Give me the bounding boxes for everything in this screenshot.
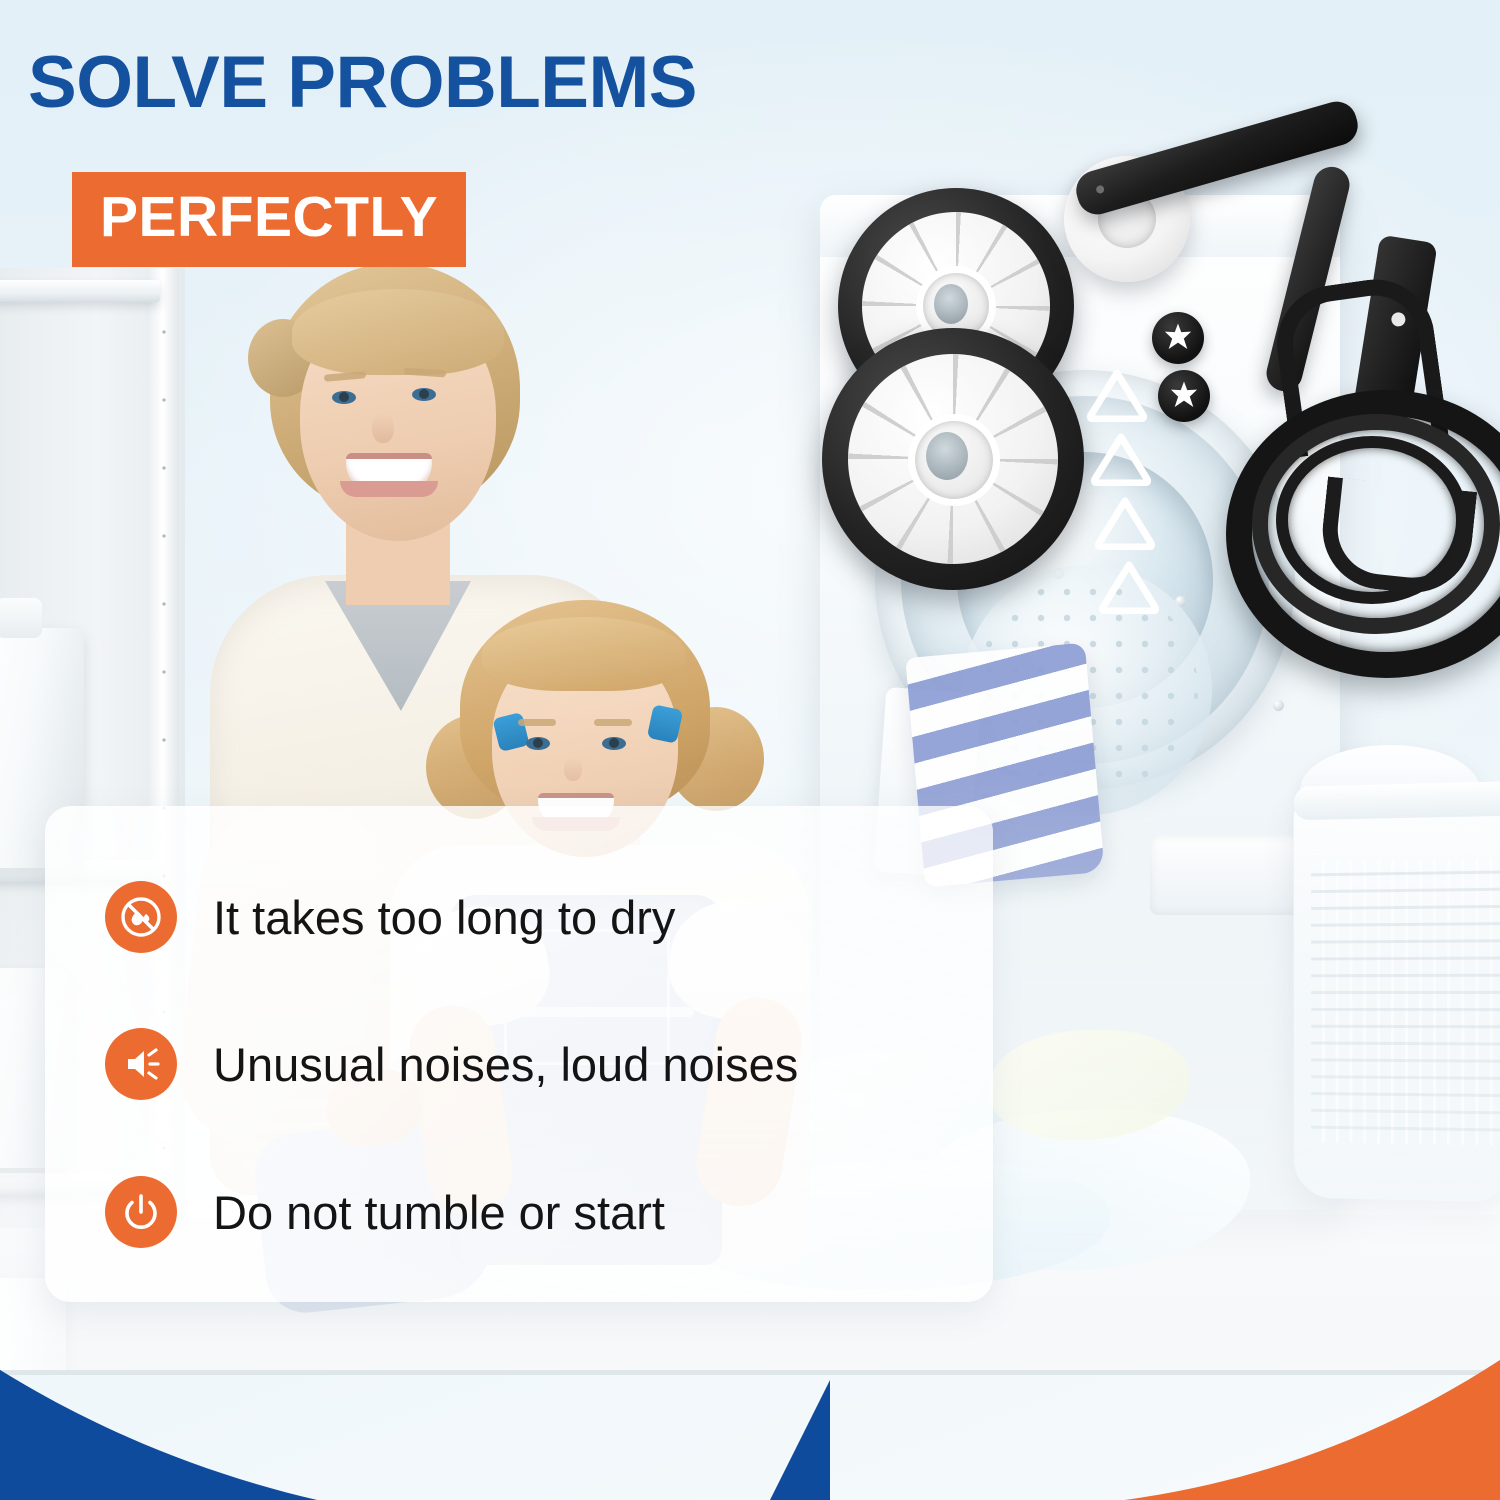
problem-list-card: It takes too long to dry Unusual noises,… (45, 806, 993, 1302)
triangular-clip (1098, 560, 1160, 614)
feature-item-no-start: Do not tumble or start (105, 1176, 665, 1248)
push-nut-retaining-ring (1152, 312, 1204, 364)
drum-roller-wheel (822, 328, 1084, 590)
page-title: SOLVE PROBLEMS (28, 46, 697, 119)
triangular-clip (1086, 368, 1148, 422)
feature-label: Do not tumble or start (213, 1189, 665, 1236)
no-water-drop-icon (105, 881, 177, 953)
roller-bore (934, 284, 968, 324)
triangular-clip (1090, 432, 1152, 486)
banner-orange-shape (830, 1360, 1500, 1500)
dryer-repair-kit-parts (810, 130, 1490, 650)
feature-item-noise: Unusual noises, loud noises (105, 1028, 798, 1100)
feature-label: It takes too long to dry (213, 894, 675, 941)
bottom-banner (0, 1340, 1500, 1500)
headline-badge: PERFECTLY (72, 172, 466, 267)
feature-item-drying-time: It takes too long to dry (105, 881, 675, 953)
dryer-drive-belt (1202, 278, 1500, 638)
triangular-clip (1094, 496, 1156, 550)
feature-label: Unusual noises, loud noises (213, 1041, 798, 1088)
power-button-icon (105, 1176, 177, 1248)
speaker-volume-icon (105, 1028, 177, 1100)
product-infographic: SOLVE PROBLEMS PERFECTLY (0, 0, 1500, 1500)
roller-bore (926, 432, 968, 480)
